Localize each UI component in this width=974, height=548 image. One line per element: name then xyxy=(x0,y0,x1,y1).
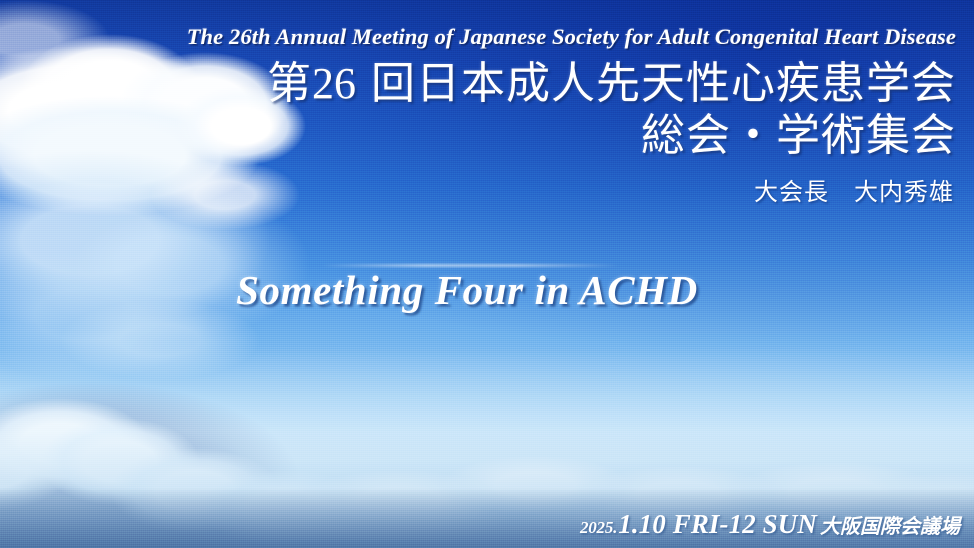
japanese-title: 第26 回日本成人先天性心疾患学会 総会・学術集会 xyxy=(267,58,956,162)
event-year: 2025. xyxy=(580,518,617,538)
japanese-title-suffix: 回日本成人先天性心疾患学会 xyxy=(356,58,956,109)
english-title: The 26th Annual Meeting of Japanese Soci… xyxy=(0,24,956,50)
footer-info: 2025. 1.10 FRI-12 SUN 大阪国際会議場 xyxy=(580,509,960,540)
meeting-theme: Something Four in ACHD xyxy=(0,266,974,314)
japanese-title-line2: 総会・学術集会 xyxy=(267,110,956,162)
japanese-title-prefix: 第 xyxy=(267,58,312,109)
meeting-number: 26 xyxy=(312,59,356,108)
event-date-range: 1.10 FRI-12 SUN xyxy=(618,509,817,540)
event-venue: 大阪国際会議場 xyxy=(820,510,960,539)
text-layer: The 26th Annual Meeting of Japanese Soci… xyxy=(0,0,974,548)
chairperson-line: 大会長 大内秀雄 xyxy=(754,172,954,207)
conference-banner: The 26th Annual Meeting of Japanese Soci… xyxy=(0,0,974,548)
